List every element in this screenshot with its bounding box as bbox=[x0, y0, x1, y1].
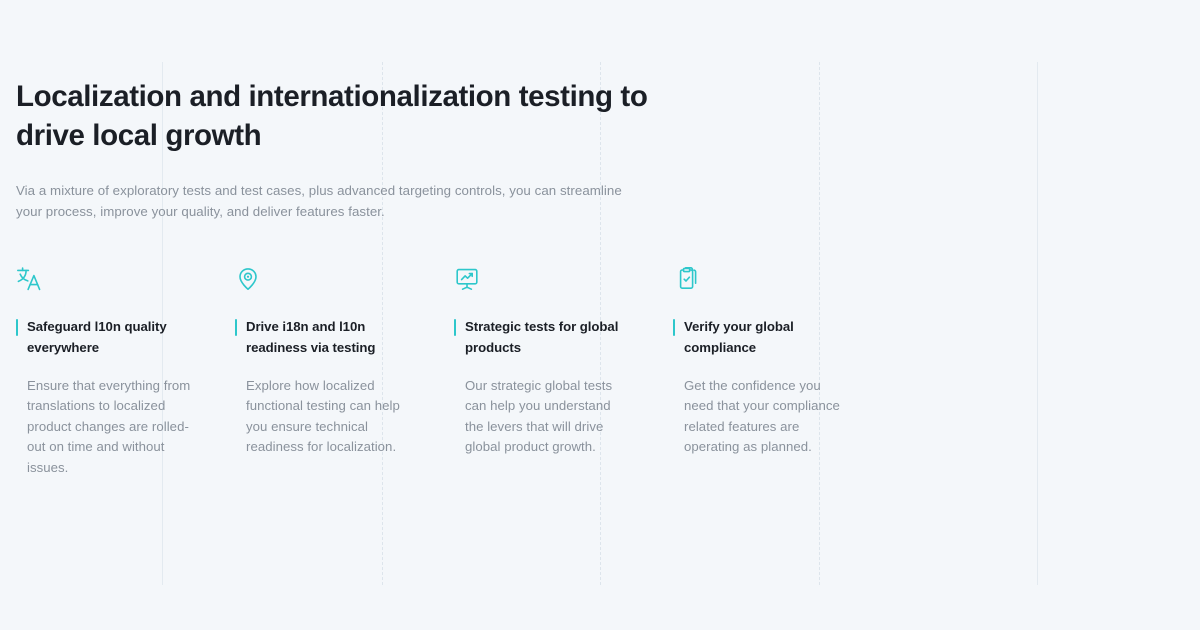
translate-icon bbox=[16, 266, 193, 296]
accent-bar bbox=[454, 319, 456, 336]
card-body: Ensure that everything from translations… bbox=[16, 358, 193, 478]
feature-card-safeguard-l10n-quality: Safeguard l10n quality everywhere Ensure… bbox=[0, 266, 219, 478]
card-body: Explore how localized functional testing… bbox=[235, 358, 412, 458]
accent-bar bbox=[673, 319, 675, 336]
card-heading-wrap: Drive i18n and l10n readiness via testin… bbox=[235, 317, 412, 358]
header-block: Localization and internationalization te… bbox=[16, 77, 656, 222]
feature-card-i18n-l10n-readiness: Drive i18n and l10n readiness via testin… bbox=[219, 266, 438, 478]
feature-card-verify-global-compliance: Verify your global compliance Get the co… bbox=[657, 266, 876, 478]
card-title: Strategic tests for global products bbox=[465, 317, 631, 358]
card-body: Get the confidence you need that your co… bbox=[673, 358, 850, 458]
card-heading-wrap: Verify your global compliance bbox=[673, 317, 850, 358]
map-pin-icon bbox=[235, 266, 412, 296]
accent-bar bbox=[235, 319, 237, 336]
page-subtitle: Via a mixture of exploratory tests and t… bbox=[16, 155, 648, 222]
card-title: Verify your global compliance bbox=[684, 317, 850, 358]
card-title: Safeguard l10n quality everywhere bbox=[27, 317, 193, 358]
card-heading-wrap: Safeguard l10n quality everywhere bbox=[16, 317, 193, 358]
accent-bar bbox=[16, 319, 18, 336]
clipboard-check-icon bbox=[673, 266, 850, 296]
presentation-chart-icon bbox=[454, 266, 631, 296]
card-heading-wrap: Strategic tests for global products bbox=[454, 317, 631, 358]
feature-card-list: Safeguard l10n quality everywhere Ensure… bbox=[0, 266, 876, 478]
page-root: Localization and internationalization te… bbox=[0, 0, 1200, 630]
card-title: Drive i18n and l10n readiness via testin… bbox=[246, 317, 412, 358]
page-title: Localization and internationalization te… bbox=[16, 77, 656, 155]
feature-card-strategic-global-tests: Strategic tests for global products Our … bbox=[438, 266, 657, 478]
card-body: Our strategic global tests can help you … bbox=[454, 358, 631, 458]
